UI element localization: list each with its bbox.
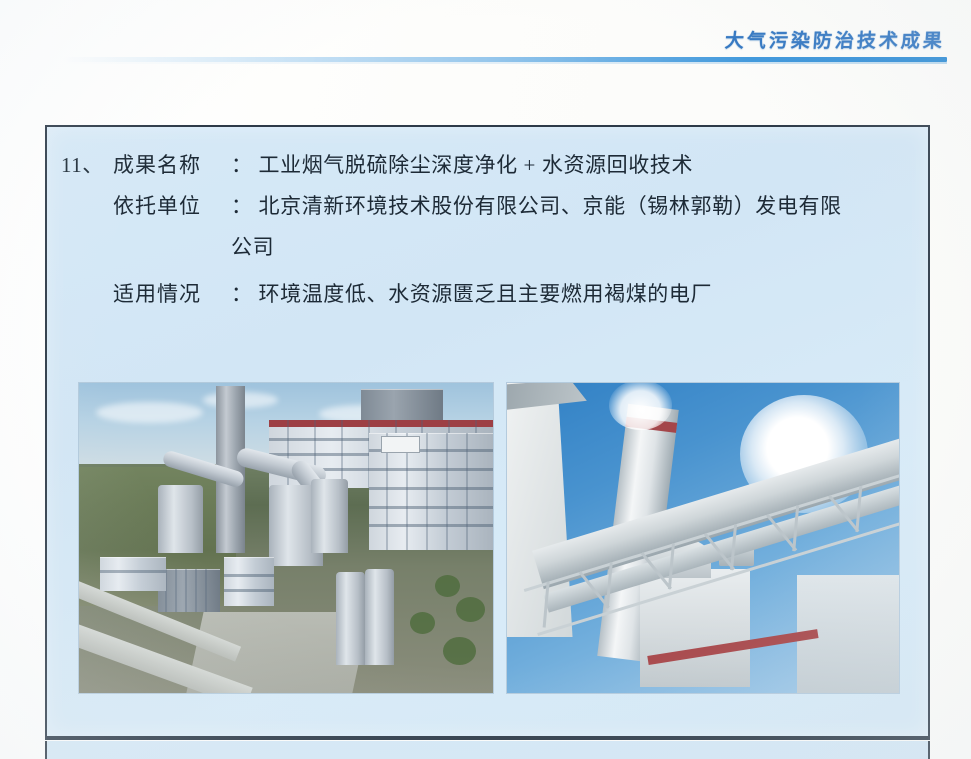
- entry-colon-name: ：: [231, 145, 259, 186]
- coal-silo: [336, 572, 365, 665]
- entry-index: 11、: [61, 145, 113, 186]
- foreground-building: [100, 557, 166, 591]
- entry-value-organization-continued: 公司: [231, 227, 912, 268]
- header-title: 大气污染防治技术成果: [724, 26, 946, 53]
- electrostatic-precipitator: [311, 479, 348, 553]
- entry-colon-application: ：: [231, 274, 259, 315]
- entry-row-organization-continued: 公司: [61, 227, 912, 268]
- tree-shape: [410, 612, 435, 634]
- document-page: 大气污染防治技术成果 11、 成果名称 ： 工业烟气脱硫除尘深度净化 + 水资源…: [0, 0, 971, 759]
- header-rule-shadow: [62, 62, 947, 64]
- power-plant-aerial-photo: [79, 383, 493, 693]
- entry-value-application: 环境温度低、水资源匮乏且主要燃用褐煤的电厂: [259, 274, 913, 315]
- absorber-tower: [158, 485, 204, 553]
- entry-colon-organization: ：: [231, 186, 259, 227]
- entry-text-block: 11、 成果名称 ： 工业烟气脱硫除尘深度净化 + 水资源回收技术 11、 依托…: [61, 145, 912, 315]
- building-sign: [381, 436, 420, 454]
- steam-plume: [609, 383, 672, 430]
- entry-label-name: 成果名称: [113, 145, 231, 186]
- photo-row: [79, 383, 903, 695]
- foreground-building: [158, 569, 220, 612]
- entry-divider: [45, 737, 930, 740]
- entry-row-name: 11、 成果名称 ： 工业烟气脱硫除尘深度净化 + 水资源回收技术: [61, 145, 912, 186]
- next-entry-card: [45, 741, 930, 759]
- chimney-plume-photo: [507, 383, 899, 693]
- entry-row-application: 11、 适用情况 ： 环境温度低、水资源匮乏且主要燃用褐煤的电厂: [61, 274, 912, 315]
- entry-value-organization: 北京清新环境技术股份有限公司、京能（锡林郭勒）发电有限: [259, 186, 913, 227]
- tree-shape: [456, 597, 485, 622]
- cloud-shape: [96, 402, 204, 424]
- foreground-building: [224, 557, 274, 607]
- entry-label-application: 适用情况: [113, 274, 231, 315]
- entry-label-organization: 依托单位: [113, 186, 231, 227]
- running-header: 大气污染防治技术成果: [0, 0, 971, 70]
- entry-card: 11、 成果名称 ： 工业烟气脱硫除尘深度净化 + 水资源回收技术 11、 依托…: [45, 125, 930, 738]
- coal-silo: [365, 569, 394, 665]
- entry-value-name: 工业烟气脱硫除尘深度净化 + 水资源回收技术: [259, 145, 913, 186]
- tree-shape: [435, 575, 460, 597]
- entry-row-organization: 11、 依托单位 ： 北京清新环境技术股份有限公司、京能（锡林郭勒）发电有限: [61, 186, 912, 227]
